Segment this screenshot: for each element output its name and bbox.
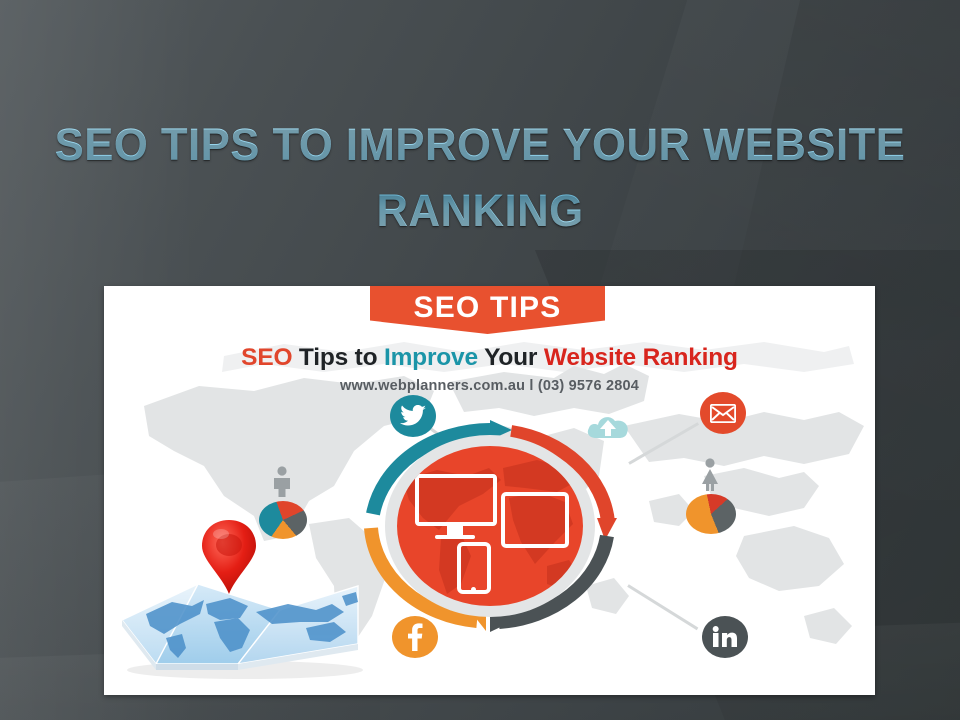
seo-tips-infographic: SEO TIPS SEO Tips to Improve Your Websit…	[104, 286, 875, 695]
connector-email	[628, 422, 699, 465]
page-title: SEO TIPS TO IMPROVE YOUR WEBSITE RANKING	[14, 112, 945, 244]
infographic-headline: SEO Tips to Improve Your Website Ranking	[104, 344, 875, 372]
person-female-icon	[697, 458, 723, 492]
headline-improve: Improve	[384, 344, 478, 371]
infographic-stage	[104, 396, 875, 695]
map-pin-icon	[200, 518, 258, 596]
slide-canvas: SEO TIPS TO IMPROVE YOUR WEBSITE RANKING…	[0, 0, 960, 720]
tablet-icon	[501, 492, 569, 548]
social-node-linkedin[interactable]	[702, 616, 748, 658]
facebook-icon	[407, 623, 423, 651]
person-male-icon	[269, 466, 295, 498]
monitor-icon	[415, 474, 497, 526]
headline-seo: SEO	[241, 344, 292, 371]
social-node-twitter[interactable]	[390, 395, 436, 437]
smartphone-button-icon	[471, 587, 476, 592]
pie-chart-left	[259, 501, 307, 539]
social-node-email[interactable]	[700, 392, 746, 434]
headline-your: Your	[478, 344, 544, 371]
central-process-ring	[359, 418, 621, 634]
center-red-ellipse	[397, 446, 583, 606]
linkedin-icon	[712, 626, 738, 648]
social-node-facebook[interactable]	[392, 616, 438, 658]
headline-tips-to: Tips to	[292, 344, 384, 371]
envelope-icon	[710, 404, 736, 423]
pie-chart-right	[686, 494, 736, 534]
monitor-base-icon	[435, 535, 475, 539]
cloud-upload-icon	[586, 412, 630, 440]
contact-line: www.webplanners.com.au l (03) 9576 2804	[104, 378, 875, 394]
connector-linkedin	[627, 584, 698, 630]
twitter-icon	[400, 405, 426, 427]
headline-website-ranking: Website Ranking	[544, 344, 738, 371]
